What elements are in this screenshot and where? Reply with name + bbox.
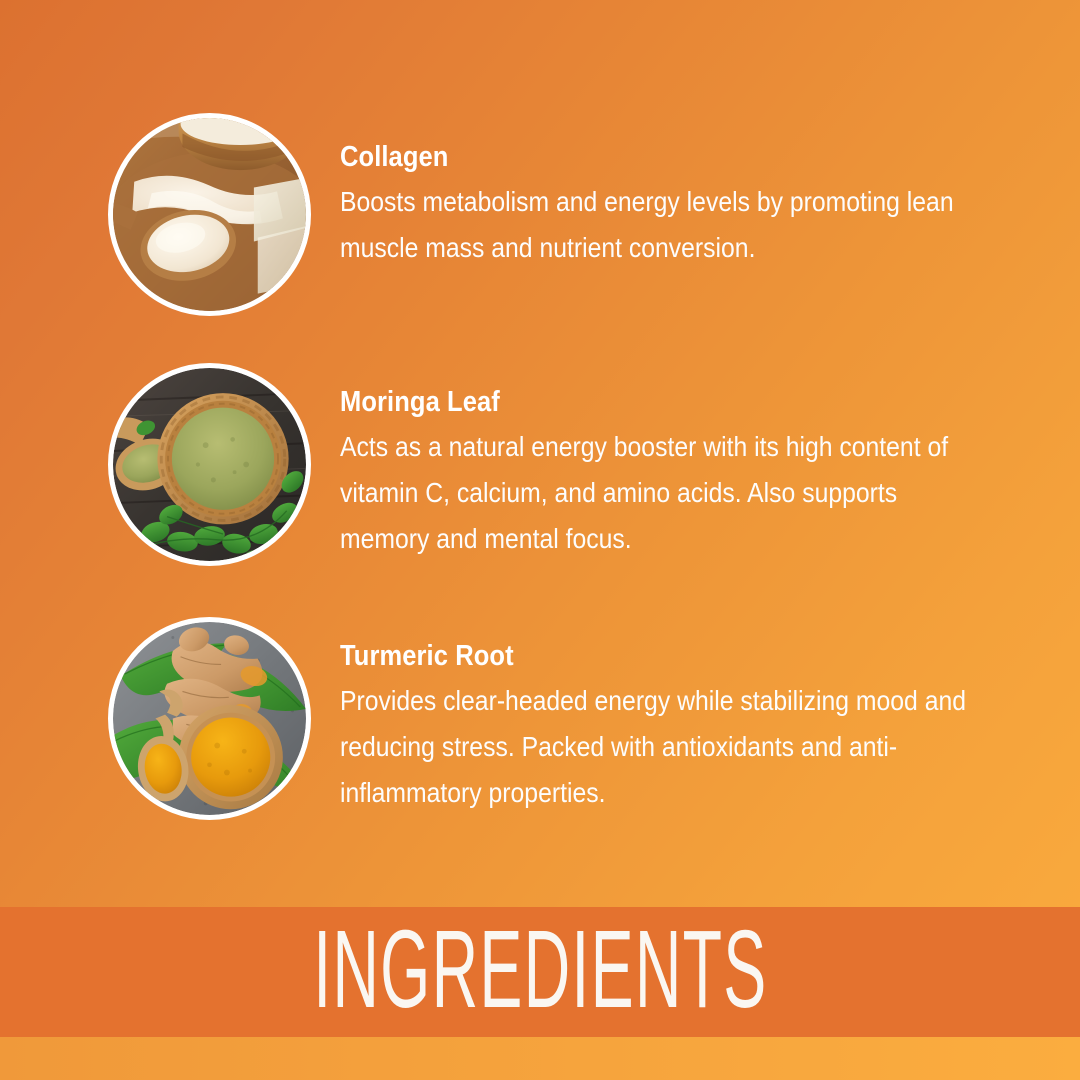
moringa-powder-photo — [108, 363, 311, 566]
collagen-powder-photo — [108, 113, 311, 316]
banner-title: INGREDIENTS — [313, 915, 767, 1029]
ingredient-item-turmeric-root: Turmeric Root Provides clear-headed ener… — [108, 617, 1008, 820]
turmeric-root-photo — [108, 617, 311, 820]
turmeric-root-copy: Turmeric Root Provides clear-headed ener… — [340, 617, 988, 816]
moringa-leaf-copy: Moringa Leaf Acts as a natural energy bo… — [340, 363, 988, 562]
ingredients-poster: Collagen Boosts metabolism and energy le… — [0, 0, 1080, 1080]
ingredient-description: Boosts metabolism and energy levels by p… — [340, 179, 987, 271]
ingredient-item-moringa-leaf: Moringa Leaf Acts as a natural energy bo… — [108, 363, 1008, 566]
ingredient-name: Collagen — [340, 140, 910, 174]
ingredient-description: Acts as a natural energy booster with it… — [340, 424, 987, 562]
ingredient-name: Turmeric Root — [340, 639, 910, 673]
collagen-copy: Collagen Boosts metabolism and energy le… — [340, 113, 988, 271]
ingredient-name: Moringa Leaf — [340, 385, 910, 419]
collagen-photo-art — [113, 118, 306, 311]
ingredients-banner: INGREDIENTS — [0, 907, 1080, 1037]
moringa-photo-art — [113, 368, 306, 561]
ingredient-item-collagen: Collagen Boosts metabolism and energy le… — [108, 113, 1008, 316]
ingredient-description: Provides clear-headed energy while stabi… — [340, 678, 987, 816]
turmeric-photo-art — [113, 622, 306, 815]
bottom-strip — [0, 1037, 1080, 1080]
